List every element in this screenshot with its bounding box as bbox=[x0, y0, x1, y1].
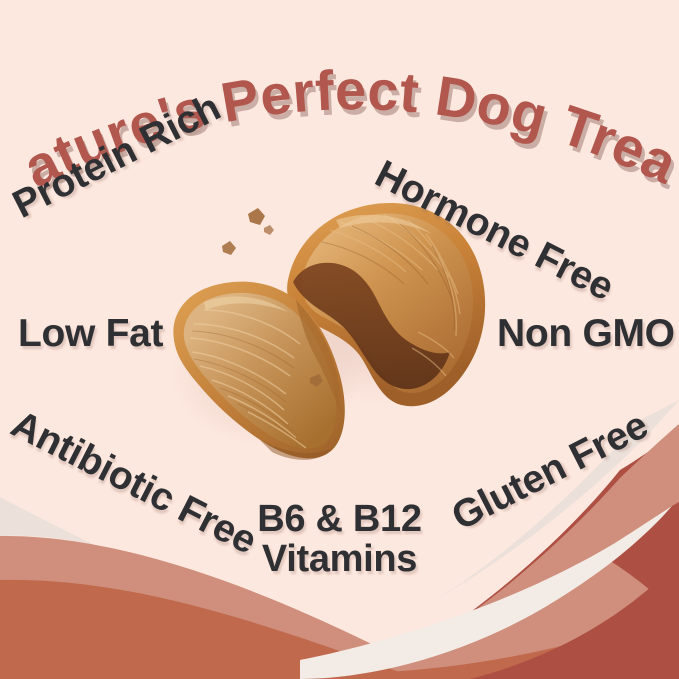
treat-pieces-illustration bbox=[160, 190, 500, 480]
product-infographic-poster: Nature's Perfect Dog Treat Nature's Perf… bbox=[0, 0, 679, 679]
dog-treat-product-image bbox=[160, 190, 500, 480]
benefit-label-low-fat: Low Fat bbox=[18, 312, 163, 356]
vitamins-line-2: Vitamins bbox=[0, 540, 679, 580]
benefit-label-non-gmo: Non GMO bbox=[497, 312, 675, 356]
vitamins-line-1: B6 & B12 bbox=[0, 500, 679, 540]
benefit-label-vitamins: B6 & B12 Vitamins bbox=[0, 500, 679, 580]
